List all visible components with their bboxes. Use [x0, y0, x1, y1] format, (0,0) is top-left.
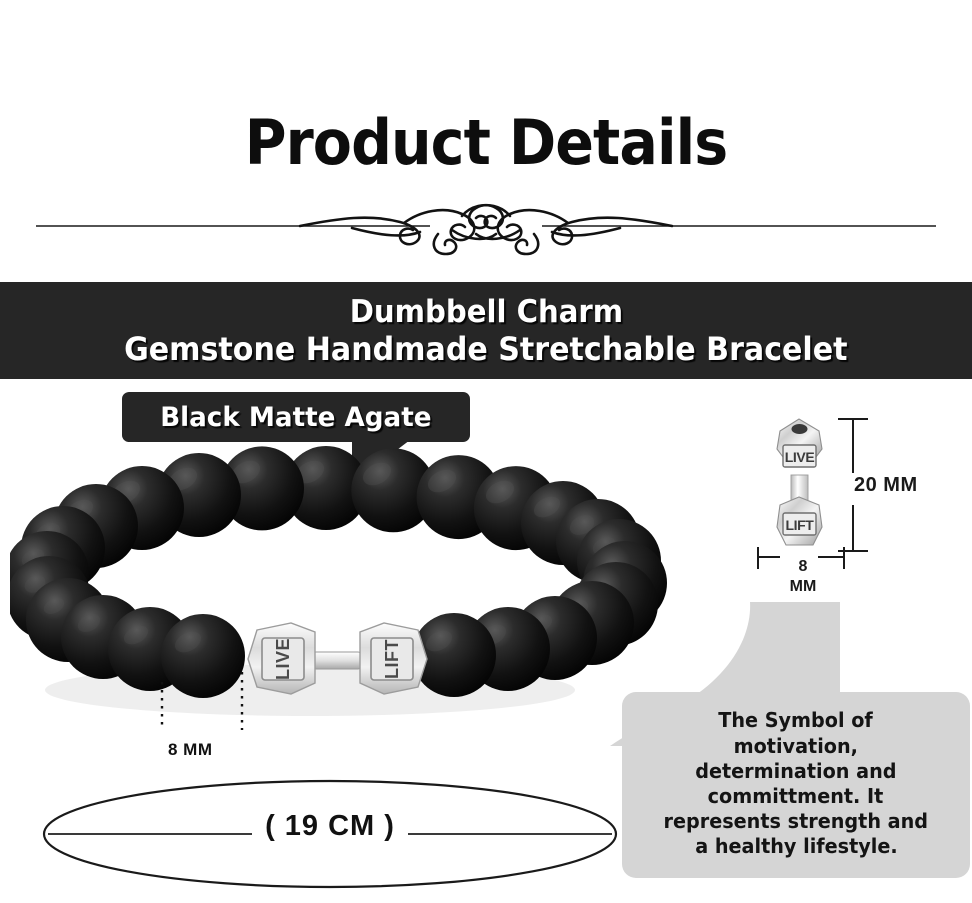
bracelet-length-label: ( 19 CM ) [40, 810, 620, 843]
charm-top-text: LIVE [785, 449, 815, 465]
bubble-line-2: motivation, [734, 734, 858, 759]
charm-bottom-text: LIFT [786, 517, 815, 533]
bubble-line-6: a healthy lifestyle. [695, 834, 897, 859]
bubble-line-4: committment. It [708, 784, 884, 809]
bracelet-product-image: LIVE LIFT [10, 440, 670, 730]
charm-width-unit: MM [781, 578, 825, 596]
bead-size-label: 8 MM [168, 740, 213, 760]
ornamental-flourish-divider-icon [0, 196, 972, 260]
charm-right-plate-text: LIFT [382, 639, 402, 679]
bubble-line-3: determination and [695, 759, 896, 784]
banner-line-1: Dumbbell Charm [349, 294, 622, 331]
charm-height-label: 20 MM [854, 474, 918, 497]
charm-width-value: 8 [790, 558, 816, 576]
product-details-page: Product Details Dumbbell Charm Gemstone … [0, 0, 972, 903]
dumbbell-charm-vertical: LIVE LIFT [777, 419, 822, 545]
charm-left-plate-text: LIVE [273, 638, 293, 680]
charm-dimension-diagram: LIVE LIFT [740, 405, 972, 605]
material-callout-label: Black Matte Agate [160, 402, 431, 433]
page-title: Product Details [39, 112, 933, 174]
symbol-meaning-bubble: The Symbol of motivation, determination … [622, 692, 970, 878]
product-name-banner: Dumbbell Charm Gemstone Handmade Stretch… [0, 282, 972, 379]
banner-line-2: Gemstone Handmade Stretchable Bracelet [124, 331, 847, 369]
material-callout: Black Matte Agate [122, 392, 470, 442]
bubble-line-5: represents strength and [664, 809, 929, 834]
bubble-line-1: The Symbol of [719, 708, 874, 733]
